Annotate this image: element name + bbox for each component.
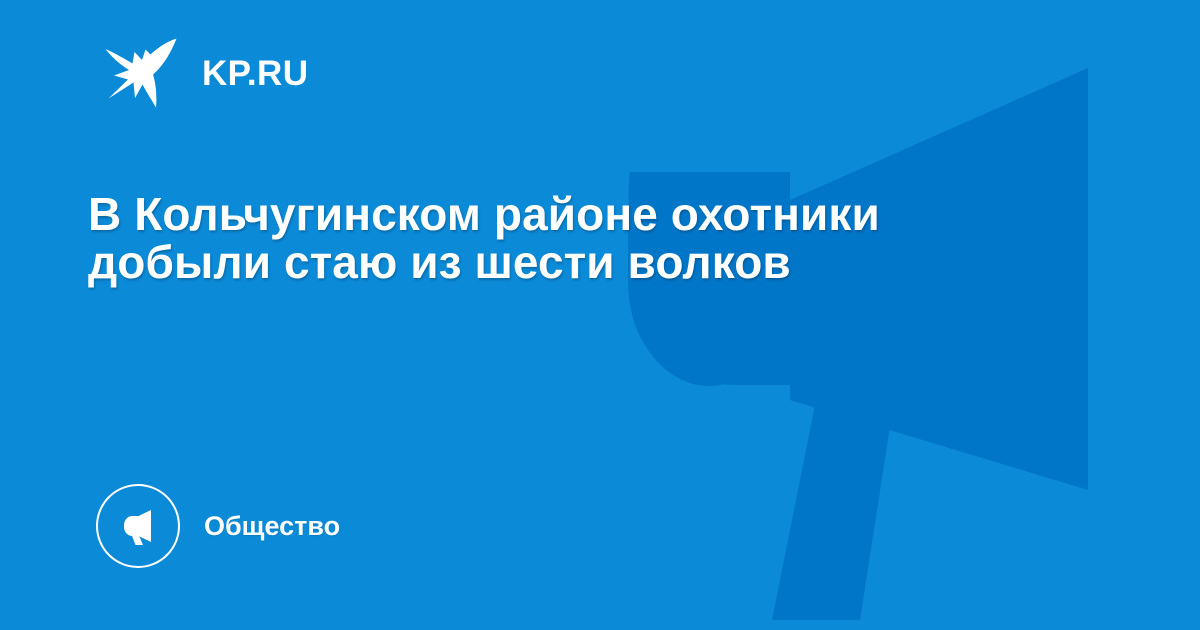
brand-logo[interactable]: KP.RU [104,36,308,110]
brand-name: KP.RU [202,56,308,91]
share-card: KP.RU В Кольчугинском районе охотники до… [0,0,1200,630]
category-badge[interactable]: Общество [96,484,340,568]
page-title: В Кольчугинском районе охотники добыли с… [88,190,1028,286]
swallow-bird-icon [104,36,180,110]
megaphone-icon [115,503,161,549]
category-label: Общество [204,513,340,540]
category-icon-ring [96,484,180,568]
